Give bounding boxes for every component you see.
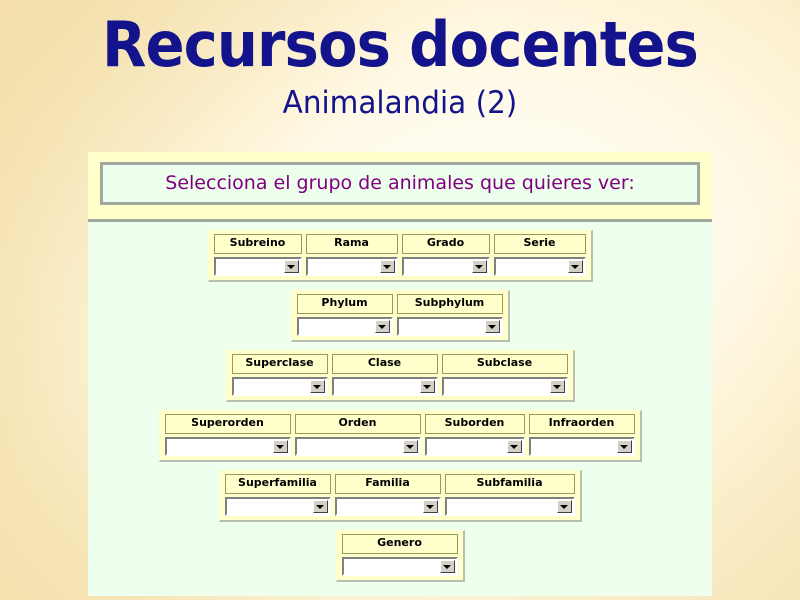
select-phylum[interactable] xyxy=(297,317,393,336)
rank-field-cell-orden xyxy=(293,434,423,456)
chevron-down-icon[interactable] xyxy=(557,500,572,513)
rank-label-row: PhylumSubphylum xyxy=(295,294,505,314)
rank-label-genero: Genero xyxy=(342,534,458,554)
rank-label-cell-grado: Grado xyxy=(400,234,492,254)
rank-label-serie: Serie xyxy=(494,234,586,254)
select-subclase[interactable] xyxy=(442,377,568,396)
rank-field-cell-subreino xyxy=(212,254,304,276)
rank-field-cell-superfamilia xyxy=(223,494,333,516)
rank-label-rama: Rama xyxy=(306,234,398,254)
page-title: Recursos docentes xyxy=(28,0,772,76)
rank-label-superfamilia: Superfamilia xyxy=(225,474,331,494)
rank-field-row xyxy=(223,494,577,516)
chevron-down-icon[interactable] xyxy=(313,500,328,513)
chevron-down-icon[interactable] xyxy=(507,440,522,453)
rank-label-cell-familia: Familia xyxy=(333,474,443,494)
select-superfamilia[interactable] xyxy=(225,497,331,516)
instruction-text: Selecciona el grupo de animales que quie… xyxy=(165,172,634,194)
rank-label-cell-infraorden: Infraorden xyxy=(527,414,637,434)
rank-field-row xyxy=(340,554,460,576)
rank-field-cell-infraorden xyxy=(527,434,637,456)
rank-label-suborden: Suborden xyxy=(425,414,525,434)
row-familia: SuperfamiliaFamiliaSubfamilia xyxy=(219,470,582,522)
rank-label-cell-subfamilia: Subfamilia xyxy=(443,474,577,494)
select-value-suborden xyxy=(427,439,507,454)
chevron-down-icon[interactable] xyxy=(380,260,395,273)
rank-field-cell-superorden xyxy=(163,434,293,456)
select-value-familia xyxy=(337,499,423,514)
rank-label-superorden: Superorden xyxy=(165,414,291,434)
rank-label-infraorden: Infraorden xyxy=(529,414,635,434)
row-phylum-wrapper: PhylumSubphylum xyxy=(88,290,712,342)
select-value-rama xyxy=(308,259,380,274)
select-familia[interactable] xyxy=(335,497,441,516)
select-clase[interactable] xyxy=(332,377,438,396)
select-subphylum[interactable] xyxy=(397,317,503,336)
select-value-infraorden xyxy=(531,439,617,454)
rank-field-row xyxy=(295,314,505,336)
rank-label-cell-orden: Orden xyxy=(293,414,423,434)
rank-label-cell-superorden: Superorden xyxy=(163,414,293,434)
select-value-orden xyxy=(297,439,403,454)
select-genero[interactable] xyxy=(342,557,458,576)
rank-label-subfamilia: Subfamilia xyxy=(445,474,575,494)
page-subtitle: Animalandia (2) xyxy=(20,76,780,119)
row-genero-wrapper: Genero xyxy=(88,530,712,582)
rank-label-cell-subclase: Subclase xyxy=(440,354,570,374)
rank-label-cell-superclase: Superclase xyxy=(230,354,330,374)
select-value-grado xyxy=(404,259,472,274)
rank-label-row: Genero xyxy=(340,534,460,554)
rank-label-row: SuperordenOrdenSubordenInfraorden xyxy=(163,414,637,434)
chevron-down-icon[interactable] xyxy=(273,440,288,453)
select-value-superfamilia xyxy=(227,499,313,514)
rank-label-subphylum: Subphylum xyxy=(397,294,503,314)
rank-label-row: SubreinoRamaGradoSerie xyxy=(212,234,588,254)
select-superorden[interactable] xyxy=(165,437,291,456)
rank-field-cell-serie xyxy=(492,254,588,276)
rank-field-row xyxy=(230,374,570,396)
rank-label-cell-genero: Genero xyxy=(340,534,460,554)
row-clase-wrapper: SuperclaseClaseSubclase xyxy=(88,350,712,402)
rank-field-cell-phylum xyxy=(295,314,395,336)
rank-label-subclase: Subclase xyxy=(442,354,568,374)
rank-field-cell-subfamilia xyxy=(443,494,577,516)
select-orden[interactable] xyxy=(295,437,421,456)
chevron-down-icon[interactable] xyxy=(568,260,583,273)
rank-label-subreino: Subreino xyxy=(214,234,302,254)
select-value-superorden xyxy=(167,439,273,454)
select-value-genero xyxy=(344,559,440,574)
rank-label-clase: Clase xyxy=(332,354,438,374)
row-genero: Genero xyxy=(336,530,465,582)
rank-label-cell-subphylum: Subphylum xyxy=(395,294,505,314)
select-subreino[interactable] xyxy=(214,257,302,276)
title-block: Recursos docentes Animalandia (2) xyxy=(0,0,800,119)
chevron-down-icon[interactable] xyxy=(403,440,418,453)
select-serie[interactable] xyxy=(494,257,586,276)
chevron-down-icon[interactable] xyxy=(423,500,438,513)
chevron-down-icon[interactable] xyxy=(310,380,325,393)
rank-field-cell-rama xyxy=(304,254,400,276)
row-familia-wrapper: SuperfamiliaFamiliaSubfamilia xyxy=(88,470,712,522)
row-orden: SuperordenOrdenSubordenInfraorden xyxy=(159,410,642,462)
rank-field-cell-genero xyxy=(340,554,460,576)
select-value-serie xyxy=(496,259,568,274)
chevron-down-icon[interactable] xyxy=(617,440,632,453)
taxonomy-form-area: SubreinoRamaGradoSeriePhylumSubphylumSup… xyxy=(88,222,712,596)
rank-label-cell-clase: Clase xyxy=(330,354,440,374)
rank-label-cell-serie: Serie xyxy=(492,234,588,254)
select-suborden[interactable] xyxy=(425,437,525,456)
slide-canvas: Recursos docentes Animalandia (2) Selecc… xyxy=(0,0,800,600)
select-superclase[interactable] xyxy=(232,377,328,396)
rank-label-row: SuperfamiliaFamiliaSubfamilia xyxy=(223,474,577,494)
chevron-down-icon[interactable] xyxy=(375,320,390,333)
row-clase: SuperclaseClaseSubclase xyxy=(226,350,575,402)
chevron-down-icon[interactable] xyxy=(284,260,299,273)
select-subfamilia[interactable] xyxy=(445,497,575,516)
rank-field-cell-clase xyxy=(330,374,440,396)
select-value-phylum xyxy=(299,319,375,334)
rank-label-cell-phylum: Phylum xyxy=(295,294,395,314)
select-grado[interactable] xyxy=(402,257,490,276)
instruction-box: Selecciona el grupo de animales que quie… xyxy=(100,162,700,205)
select-value-subreino xyxy=(216,259,284,274)
select-value-superclase xyxy=(234,379,310,394)
rank-label-cell-superfamilia: Superfamilia xyxy=(223,474,333,494)
row-phylum: PhylumSubphylum xyxy=(291,290,510,342)
rank-label-cell-subreino: Subreino xyxy=(212,234,304,254)
rank-label-cell-rama: Rama xyxy=(304,234,400,254)
chevron-down-icon[interactable] xyxy=(485,320,500,333)
form-panel: Selecciona el grupo de animales que quie… xyxy=(88,152,712,592)
rank-field-row xyxy=(163,434,637,456)
rank-label-row: SuperclaseClaseSubclase xyxy=(230,354,570,374)
select-value-subphylum xyxy=(399,319,485,334)
rank-label-grado: Grado xyxy=(402,234,490,254)
rank-label-superclase: Superclase xyxy=(232,354,328,374)
rank-field-cell-superclase xyxy=(230,374,330,396)
rank-field-row xyxy=(212,254,588,276)
select-value-clase xyxy=(334,379,420,394)
rank-field-cell-subphylum xyxy=(395,314,505,336)
select-value-subfamilia xyxy=(447,499,557,514)
chevron-down-icon[interactable] xyxy=(472,260,487,273)
rank-label-familia: Familia xyxy=(335,474,441,494)
chevron-down-icon[interactable] xyxy=(420,380,435,393)
select-infraorden[interactable] xyxy=(529,437,635,456)
rank-field-cell-suborden xyxy=(423,434,527,456)
rank-field-cell-grado xyxy=(400,254,492,276)
rank-field-cell-familia xyxy=(333,494,443,516)
rank-field-cell-subclase xyxy=(440,374,570,396)
rank-label-cell-suborden: Suborden xyxy=(423,414,527,434)
select-value-subclase xyxy=(444,379,550,394)
chevron-down-icon[interactable] xyxy=(550,380,565,393)
chevron-down-icon[interactable] xyxy=(440,560,455,573)
row-orden-wrapper: SuperordenOrdenSubordenInfraorden xyxy=(88,410,712,462)
row-reino-wrapper: SubreinoRamaGradoSerie xyxy=(88,230,712,282)
rank-label-orden: Orden xyxy=(295,414,421,434)
rank-label-phylum: Phylum xyxy=(297,294,393,314)
row-reino: SubreinoRamaGradoSerie xyxy=(208,230,593,282)
select-rama[interactable] xyxy=(306,257,398,276)
instruction-band: Selecciona el grupo de animales que quie… xyxy=(88,152,712,222)
